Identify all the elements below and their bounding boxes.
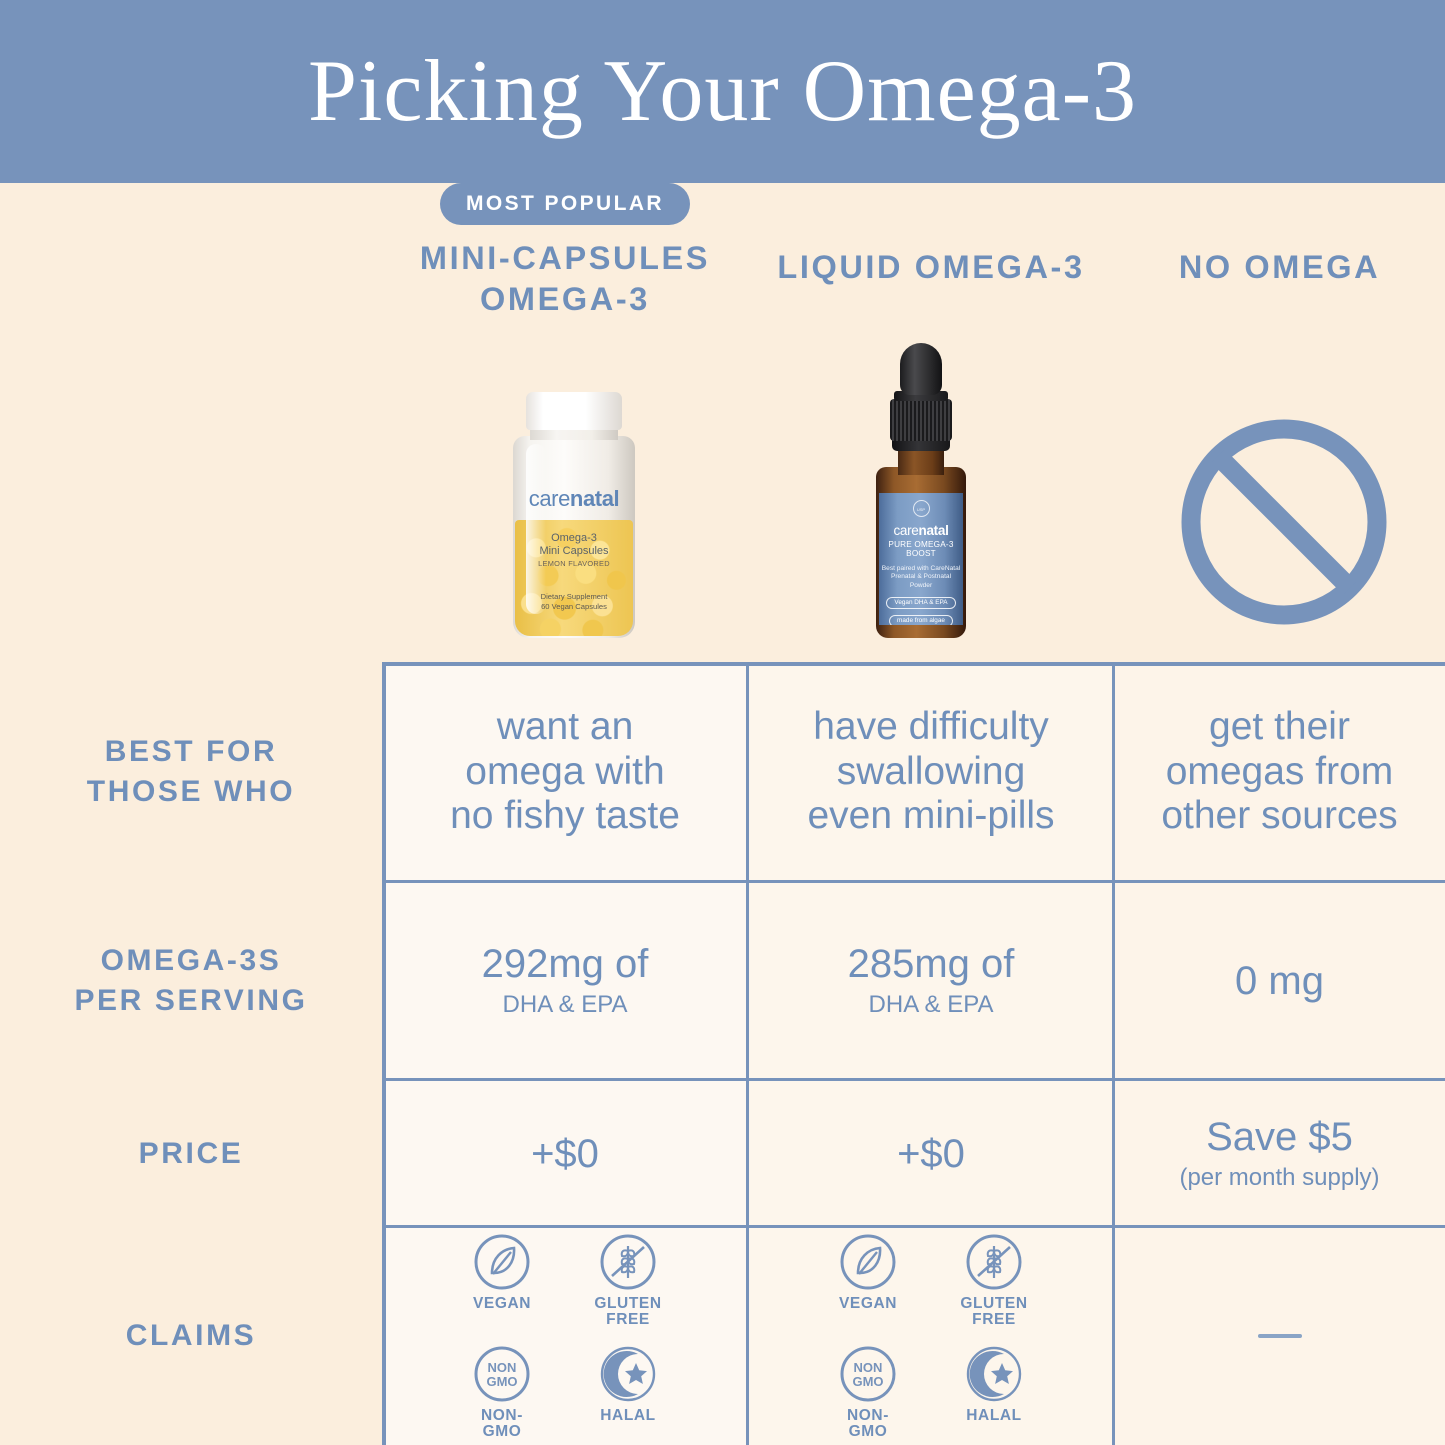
svg-text:GMO: GMO [852, 1374, 883, 1389]
brand-care: care [893, 523, 918, 538]
cell-omega-liquid: 285mg of DHA & EPA [748, 882, 1114, 1080]
claim-vegan: VEGAN [463, 1232, 541, 1328]
cell-value: +$0 [531, 1132, 599, 1176]
dropper-label: USP carenatal PURE OMEGA-3 BOOST Best pa… [879, 493, 963, 625]
bottle-line5: 60 Vegan Capsules [513, 602, 635, 612]
bottle-supplement-info: Dietary Supplement 60 Vegan Capsules [513, 592, 635, 612]
claims-row-top: VEGAN [829, 1232, 1033, 1328]
brand-care: care [529, 486, 570, 511]
claims-group: VEGAN [463, 1232, 667, 1440]
prohibition-icon [1177, 415, 1391, 629]
claim-gluten-free: GLUTEN FREE [955, 1232, 1033, 1328]
cell-value: Save $5 [1206, 1115, 1353, 1159]
capsule-bottle-image: carenatal Omega-3 Mini Capsules LEMON FL… [500, 392, 648, 638]
dropper-cap [890, 399, 952, 441]
column-title-liquid-omega: LIQUID OMEGA-3 [748, 247, 1114, 288]
column-title-no-omega: NO OMEGA [1114, 247, 1445, 288]
dropper-claim-vegan: Vegan DHA & EPA [886, 597, 955, 609]
table-divider-row1 [382, 880, 1445, 883]
usp-seal-icon: USP [913, 500, 930, 517]
claim-label: NON-GMO [829, 1408, 907, 1440]
page-title: Picking Your Omega-3 [308, 41, 1137, 142]
crescent-star-icon [964, 1344, 1024, 1404]
table-border-left [382, 662, 386, 1445]
comparison-table: want an omega with no fishy taste have d… [382, 662, 1445, 1445]
non-gmo-icon: NON GMO [838, 1344, 898, 1404]
bottle-line1: Omega-3 [513, 532, 635, 545]
cell-text: have difficulty swallowing even mini-pil… [807, 705, 1054, 840]
cell-best-for-none: get their omegas from other sources [1114, 662, 1445, 882]
dropper-bulb [900, 343, 942, 395]
claim-label: HALAL [955, 1408, 1033, 1424]
claim-halal: HALAL [955, 1344, 1033, 1440]
svg-text:NON: NON [854, 1360, 883, 1375]
claims-row-bottom: NON GMO NON-GMO [463, 1344, 667, 1440]
claim-label: NON-GMO [463, 1408, 541, 1440]
column-header-liquid-omega: LIQUID OMEGA-3 [748, 183, 1114, 288]
empty-dash [1258, 1334, 1302, 1338]
cell-value: 285mg of [848, 942, 1015, 986]
claim-label: VEGAN [829, 1296, 907, 1312]
bottle-product-name: Omega-3 Mini Capsules [513, 532, 635, 557]
claim-label: GLUTEN FREE [589, 1296, 667, 1328]
row-label-price: PRICE [0, 1080, 382, 1227]
brand-natal: natal [919, 523, 949, 538]
cell-omega-mini: 292mg of DHA & EPA [382, 882, 748, 1080]
claim-halal: HALAL [589, 1344, 667, 1440]
claim-label: VEGAN [463, 1296, 541, 1312]
cell-text: want an omega with no fishy taste [450, 705, 680, 840]
claims-row-bottom: NON GMO NON-GMO [829, 1344, 1033, 1440]
row-label-best-for: BEST FOR THOSE WHO [0, 662, 382, 882]
table-divider-row2 [382, 1078, 1445, 1081]
cell-value: 0 mg [1235, 959, 1324, 1003]
bottle-label: carenatal Omega-3 Mini Capsules LEMON FL… [513, 488, 635, 612]
cell-subtext: DHA & EPA [869, 991, 994, 1020]
wheat-crossed-icon [598, 1232, 658, 1292]
table-divider-col1 [746, 662, 749, 1445]
leaf-icon [472, 1232, 532, 1292]
bottle-brand: carenatal [513, 488, 635, 509]
claims-row-top: VEGAN [463, 1232, 667, 1328]
cell-price-mini: +$0 [382, 1080, 748, 1227]
claim-non-gmo: NON GMO NON-GMO [829, 1344, 907, 1440]
cell-subtext: DHA & EPA [503, 991, 628, 1020]
bottle-line4: Dietary Supplement [513, 592, 635, 602]
claim-vegan: VEGAN [829, 1232, 907, 1328]
column-headers: MOST POPULAR MINI-CAPSULES OMEGA-3 LIQUI… [0, 183, 1445, 662]
cell-best-for-mini: want an omega with no fishy taste [382, 662, 748, 882]
table-row-price: +$0 +$0 Save $5 (per month supply) [382, 1080, 1445, 1227]
column-header-mini-capsules: MOST POPULAR MINI-CAPSULES OMEGA-3 [382, 183, 748, 320]
dropper-pairing-text: Best paired with CareNatal Prenatal & Po… [879, 565, 963, 591]
claim-non-gmo: NON GMO NON-GMO [463, 1344, 541, 1440]
claim-label: HALAL [589, 1408, 667, 1424]
dropper-subtitle: PURE OMEGA-3 BOOST [879, 540, 963, 558]
svg-text:GMO: GMO [486, 1374, 517, 1389]
wheat-crossed-icon [964, 1232, 1024, 1292]
cell-claims-none [1114, 1227, 1445, 1445]
cell-value: +$0 [897, 1132, 965, 1176]
bottle-line2: Mini Capsules [513, 545, 635, 558]
table-border-top [382, 662, 1445, 666]
cell-claims-mini: VEGAN [382, 1227, 748, 1445]
column-title-mini-capsules: MINI-CAPSULES OMEGA-3 [382, 238, 748, 320]
dropper-shoulder [898, 449, 944, 475]
table-divider-row3 [382, 1225, 1445, 1228]
row-label-omega-per-serving: OMEGA-3S PER SERVING [0, 882, 382, 1080]
cell-price-liquid: +$0 [748, 1080, 1114, 1227]
cell-best-for-liquid: have difficulty swallowing even mini-pil… [748, 662, 1114, 882]
table-row-claims: VEGAN [382, 1227, 1445, 1445]
brand-natal: natal [570, 486, 619, 511]
table-row-best-for: want an omega with no fishy taste have d… [382, 662, 1445, 882]
cell-price-none: Save $5 (per month supply) [1114, 1080, 1445, 1227]
table-divider-col2 [1112, 662, 1115, 1445]
table-row-omega-per-serving: 292mg of DHA & EPA 285mg of DHA & EPA 0 … [382, 882, 1445, 1080]
bottle-cap [526, 392, 622, 430]
cell-omega-none: 0 mg [1114, 882, 1445, 1080]
claims-group: VEGAN [829, 1232, 1033, 1440]
dropper-bottle-image: USP carenatal PURE OMEGA-3 BOOST Best pa… [862, 343, 980, 638]
cell-subtext: (per month supply) [1179, 1164, 1379, 1193]
dropper-claim-algae: made from algae [889, 615, 953, 625]
row-label-claims: CLAIMS [0, 1227, 382, 1445]
crescent-star-icon [598, 1344, 658, 1404]
header-banner: Picking Your Omega-3 [0, 0, 1445, 183]
column-header-no-omega: NO OMEGA [1114, 183, 1445, 288]
cell-claims-liquid: VEGAN [748, 1227, 1114, 1445]
bottle-flavor: LEMON FLAVORED [513, 559, 635, 568]
leaf-icon [838, 1232, 898, 1292]
non-gmo-icon: NON GMO [472, 1344, 532, 1404]
cell-text: get their omegas from other sources [1161, 705, 1397, 840]
dropper-brand: carenatal [879, 524, 963, 538]
svg-text:NON: NON [488, 1360, 517, 1375]
cell-value: 292mg of [482, 942, 649, 986]
most-popular-badge: MOST POPULAR [440, 183, 690, 225]
claim-label: GLUTEN FREE [955, 1296, 1033, 1328]
claim-gluten-free: GLUTEN FREE [589, 1232, 667, 1328]
